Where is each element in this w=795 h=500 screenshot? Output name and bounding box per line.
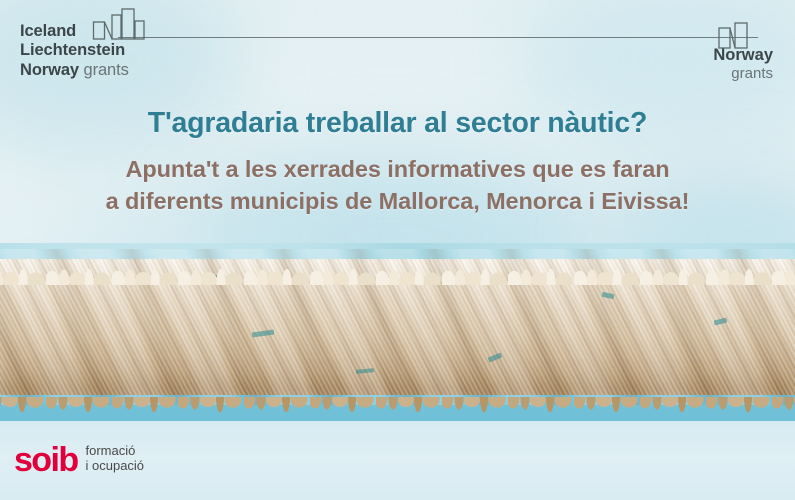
poster-subheadline: Apunta't a les xerrades informatives que… bbox=[0, 154, 795, 217]
norway-logo-line2: grants bbox=[713, 65, 773, 83]
rope-photograph bbox=[0, 243, 795, 421]
poster-copy-block: T'agradaria treballar al sector nàutic? … bbox=[0, 100, 795, 218]
poster-subheadline-line1: Apunta't a les xerrades informatives que… bbox=[0, 154, 795, 186]
poster-subheadline-line2: a diferents municipis de Mallorca, Menor… bbox=[0, 186, 795, 218]
soib-tagline-line2: i ocupació bbox=[86, 459, 145, 474]
eea-logo-line-norway-grants: Norway grants bbox=[20, 61, 129, 80]
eea-logo-grants-word: grants bbox=[84, 61, 129, 79]
rope-frayed-bottom-edge bbox=[0, 397, 795, 421]
norway-logo-line1: Norway bbox=[713, 46, 773, 65]
donor-logo-header: Iceland Liechtenstein Norway grants Norw… bbox=[0, 0, 795, 100]
norway-grants-logo: Norway grants bbox=[713, 46, 773, 83]
rope-body bbox=[0, 259, 795, 395]
soib-tagline: formació i ocupació bbox=[86, 444, 145, 476]
poster-canvas: Iceland Liechtenstein Norway grants Norw… bbox=[0, 0, 795, 500]
soib-tagline-line1: formació bbox=[86, 444, 145, 459]
rope-frayed-top-edge bbox=[0, 259, 795, 285]
eea-logo-norway-word: Norway bbox=[20, 61, 79, 79]
header-divider-line bbox=[118, 37, 758, 38]
eea-logo-line-liechtenstein: Liechtenstein bbox=[20, 41, 129, 60]
soib-logo: soib formació i ocupació bbox=[14, 443, 144, 477]
eea-grants-mark-icon bbox=[92, 8, 150, 40]
sponsor-footer-bar: soib formació i ocupació bbox=[0, 421, 795, 500]
soib-wordmark: soib bbox=[14, 443, 78, 477]
poster-headline: T'agradaria treballar al sector nàutic? bbox=[0, 100, 795, 140]
